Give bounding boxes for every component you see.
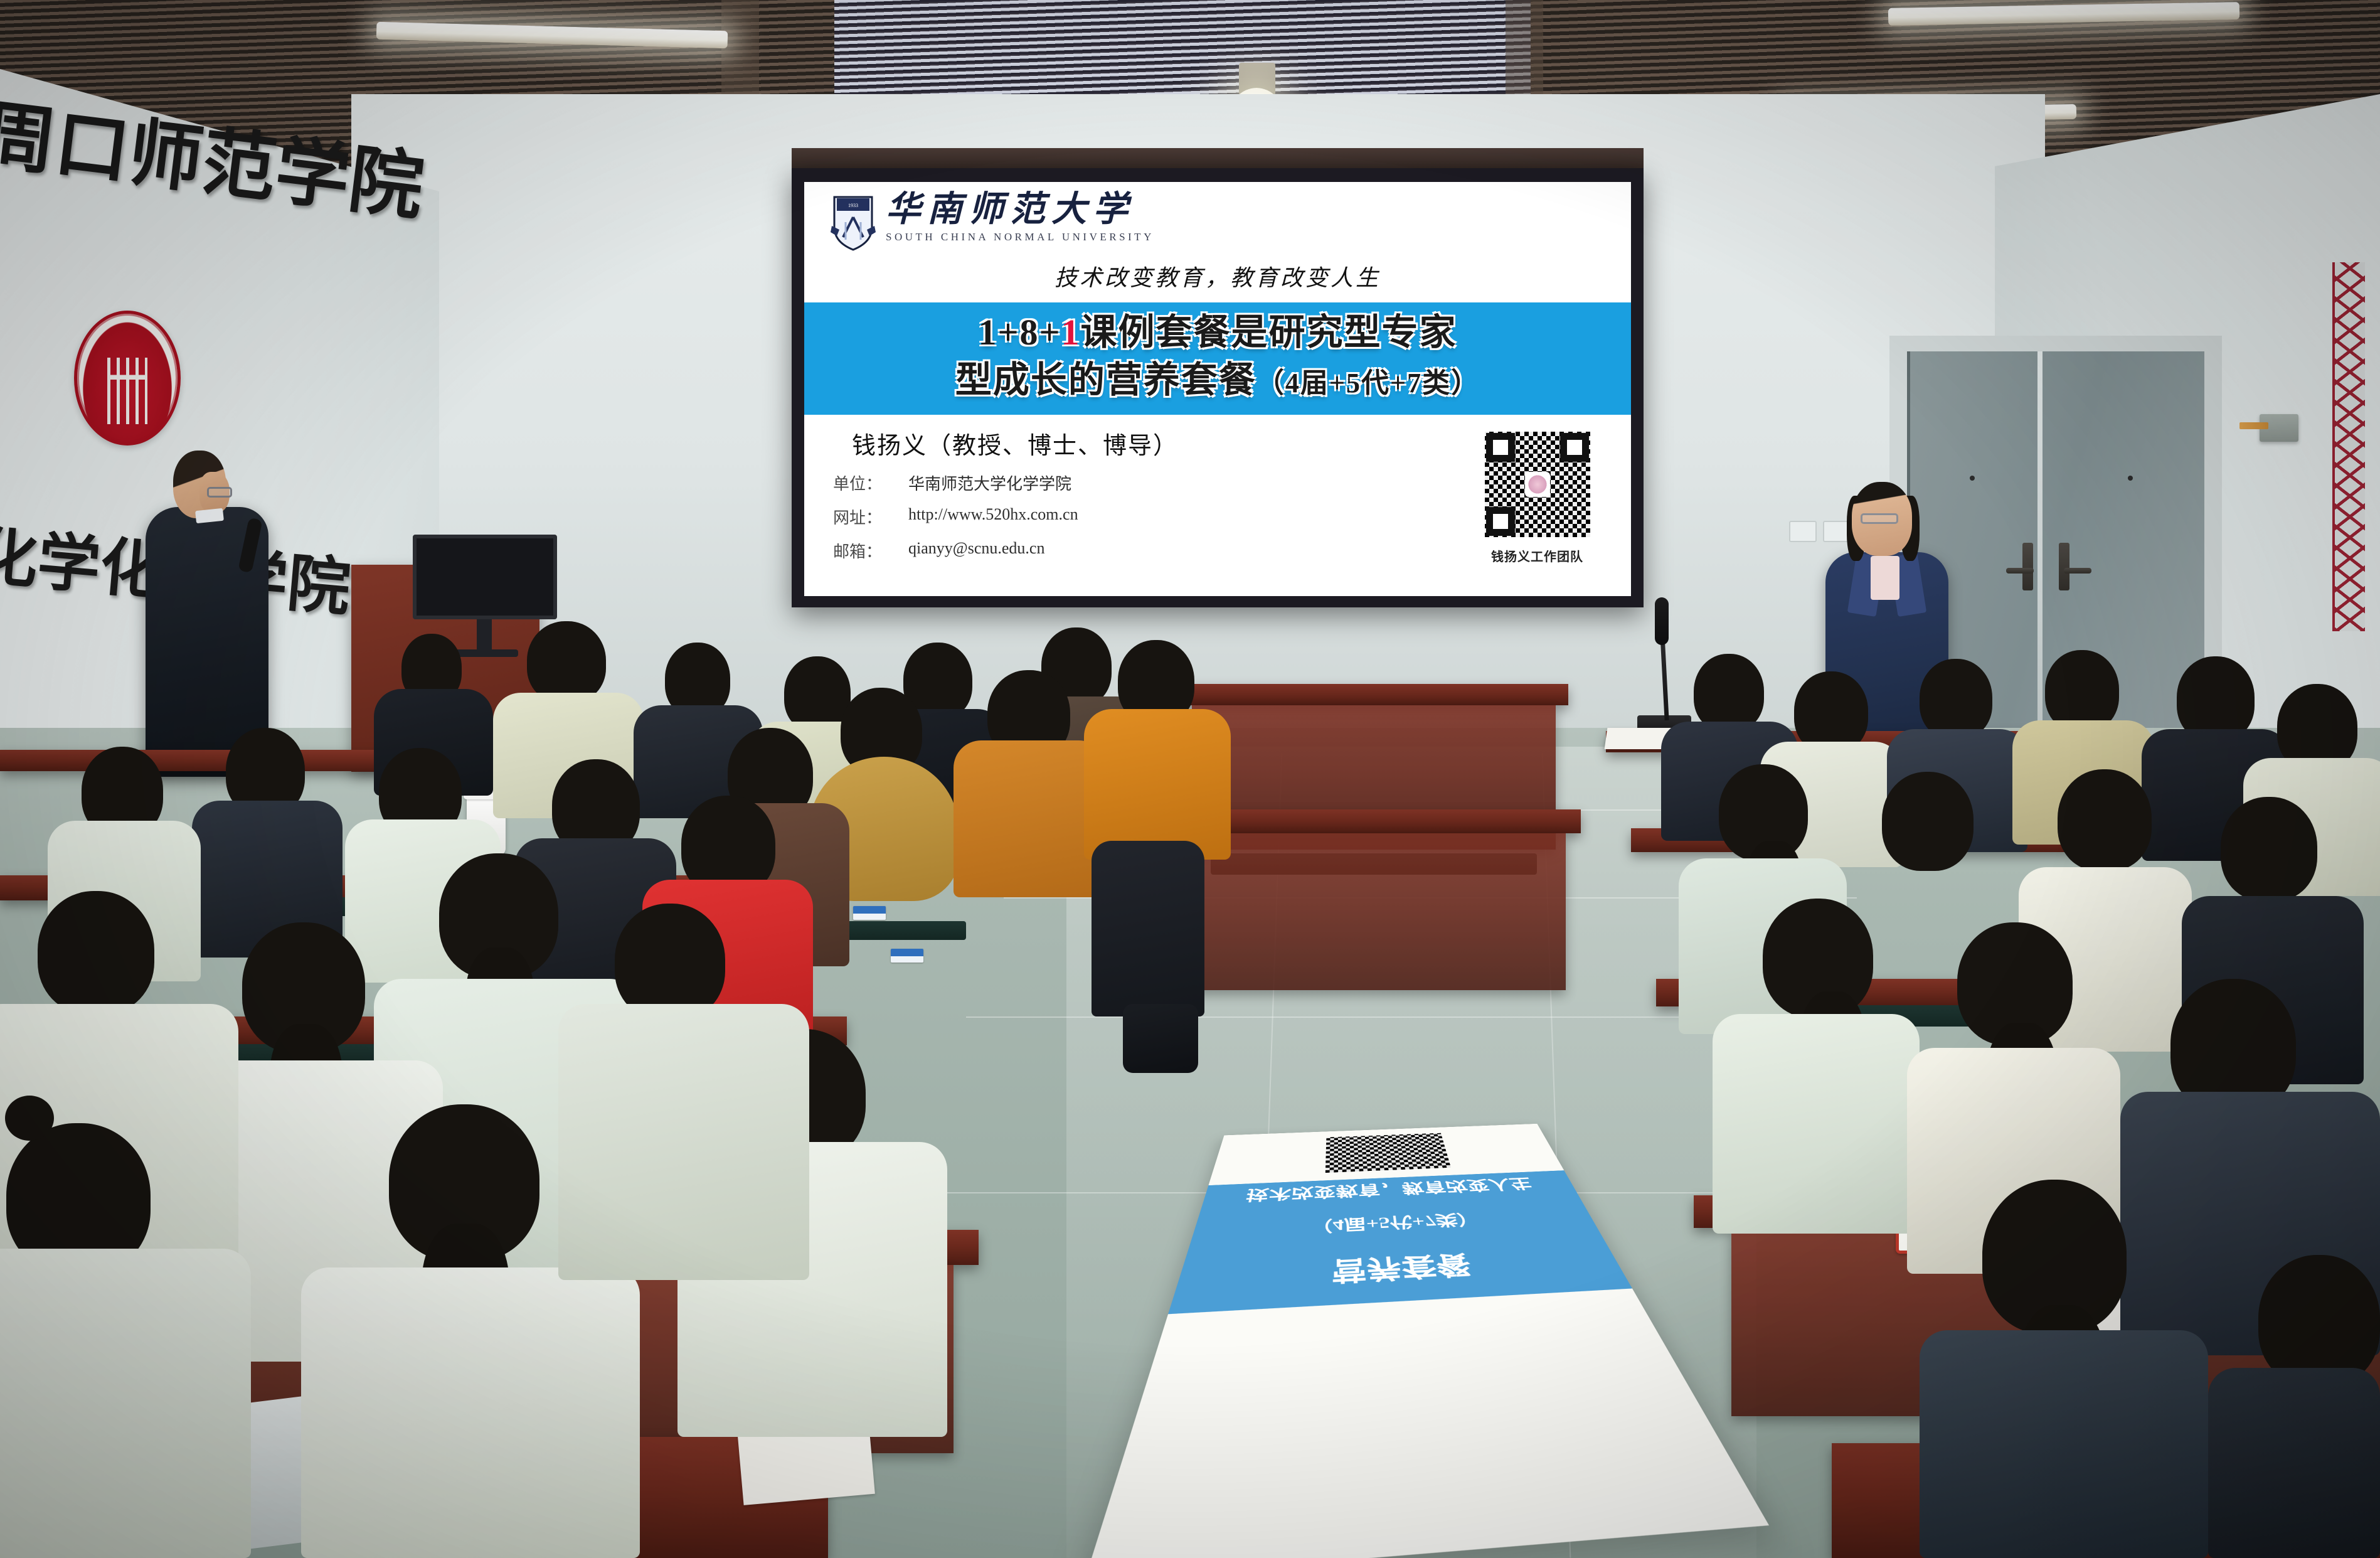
meta-key-affiliation: 单位： [833,471,908,494]
poster-qr-code [1325,1133,1451,1173]
audience-head [615,904,725,1020]
title-accent-digit: 1 [1061,312,1081,353]
audience-head [1794,671,1868,753]
meta-row-affiliation: 单位： 华南师范大学化学学院 [833,471,1470,494]
zhoukou-university-emblem [74,311,181,446]
audience-head [784,656,851,732]
meta-key-website: 网址： [833,505,908,528]
door-lever-right[interactable] [2064,568,2091,574]
presenter-name: 钱扬义（教授、博士、博导） [852,426,1470,461]
slide-header: 1933 华南师范大学 SOUTH CHINA NORMAL UNIVERSIT… [804,182,1631,257]
door-center-seam [2037,351,2043,775]
meta-row-email: 邮箱： qianyy@scnu.edu.cn [833,539,1470,562]
presentation-slide: 1933 华南师范大学 SOUTH CHINA NORMAL UNIVERSIT… [804,182,1631,596]
audience-head [1694,654,1764,732]
aisle-person-shoe [1123,1004,1198,1073]
audience-head [2221,797,2317,901]
scnu-name-en: SOUTH CHINA NORMAL UNIVERSITY [886,231,1154,243]
door-peephole [2128,476,2133,481]
scnu-shield-icon: 1933 [831,193,876,251]
audience-head [527,621,606,703]
slide-title-line-1: 1+8+1课例套餐是研究型专家 [804,311,1631,354]
host-glasses [1861,513,1898,524]
seat-number-sticker [853,906,886,920]
wall-speaker [2260,414,2298,442]
audience-head [1882,772,1974,871]
qr-caption: 钱扬义工作团队 [1470,547,1605,565]
seat-number-sticker [891,949,923,963]
meta-key-email: 邮箱： [833,539,908,562]
audience-torso [301,1267,640,1558]
bench-center [841,921,966,940]
scnu-wordmark: 华南师范大学 SOUTH CHINA NORMAL UNIVERSITY [886,192,1154,243]
door-handle-right[interactable] [2059,543,2069,590]
door-handle-left[interactable] [2022,543,2033,590]
slide-motto: 技术改变教育，教育改变人生 [804,260,1631,292]
qr-finder-top-right [1560,433,1589,462]
desk-row-far-center [1179,684,1568,705]
meta-value-email: qianyy@scnu.edu.cn [908,539,1044,562]
title-prefix: 1+8+ [978,312,1061,353]
host-shirt [1871,556,1899,600]
audience-torso [1713,1014,1920,1234]
poster-line-1: 技术改变教育，教育改变人生 [1201,1173,1576,1209]
audience-head [2058,769,2152,871]
meta-value-website: http://www.520hx.com.cn [908,505,1078,528]
audience-torso [1084,709,1231,860]
microphone-capsule [1655,597,1669,645]
svg-text:1933: 1933 [848,203,858,208]
title-line2-paren: （4届+5代+7类） [1256,368,1480,398]
lecture-hall-photo: 周口师范学院 化学化工学院 1933 华南师范大学 [0,0,2380,1558]
slide-title-band: 1+8+1课例套餐是研究型专家 型成长的营养套餐（4届+5代+7类） [804,302,1631,415]
door-peephole [1970,476,1975,481]
title-line2-main: 型成长的营养套餐 [955,360,1256,400]
meta-value-affiliation: 华南师范大学化学学院 [908,471,1071,494]
aisle-person-legs [1092,841,1204,1016]
audience-head [38,891,154,1014]
slide-contact-block: 钱扬义（教授、博士、博导） 单位： 华南师范大学化学学院 网址： http://… [833,426,1470,596]
meta-row-website: 网址： http://www.520hx.com.cn [833,505,1470,528]
slide-qr-block: 钱扬义工作团队 [1470,426,1605,596]
audience-torso [1920,1330,2208,1558]
qr-center-logo [1525,472,1550,497]
title-rest: 课例套餐是研究型专家 [1081,312,1457,353]
qr-code [1482,429,1593,540]
audience-torso [0,1249,251,1558]
door-lever-left[interactable] [2006,568,2034,574]
audience-torso [2208,1368,2380,1558]
slide-body: 钱扬义（教授、博士、博导） 单位： 华南师范大学化学学院 网址： http://… [804,415,1631,596]
audience-hair-bun [5,1096,54,1141]
emblem-ring [77,314,178,442]
qr-finder-top-left [1486,433,1515,462]
audience-head [2258,1255,2380,1387]
audience-torso [558,1004,809,1280]
monitor-stand [477,619,492,652]
qr-finder-bottom-left [1486,507,1515,536]
light-switch-plate[interactable] [1789,521,1817,542]
slide-title-line-2: 型成长的营养套餐（4届+5代+7类） [804,359,1631,402]
speaker-glasses [207,487,232,498]
scnu-name-cn: 华南师范大学 [886,192,1154,227]
audience-head [2045,650,2119,732]
audience-head [1920,659,1992,739]
podium-monitor[interactable] [413,535,557,619]
red-lattice-window-frame [2332,262,2365,631]
